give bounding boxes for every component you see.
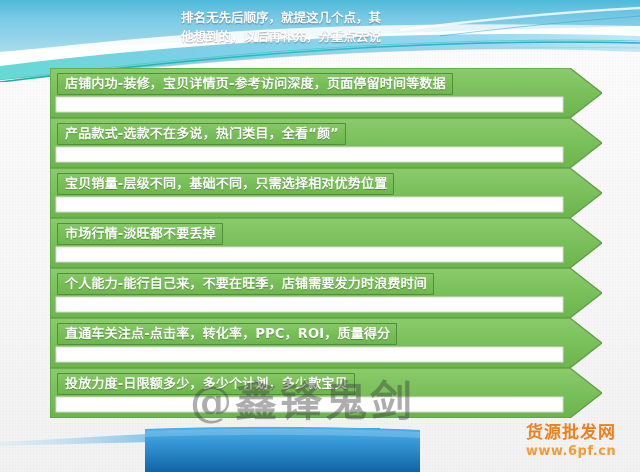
banner-text: 排名无先后顺序，就提这几个点，其 他想到的，以后再补充，分重点去说 <box>157 8 405 46</box>
arrow-label-3: 宝贝销量-层级不同，基础不同，只需选择相对优势位置 <box>57 173 394 195</box>
arrow-item-1[interactable]: 店铺内功-装修，宝贝详情页-参考访问深度，页面停留时间等数据 <box>50 68 602 118</box>
arrow-list: 店铺内功-装修，宝贝详情页-参考访问深度，页面停留时间等数据 产品款式-选款不在… <box>0 0 640 472</box>
arrow-label-6: 直通车关注点-点击率，转化率，PPC，ROI，质量得分 <box>57 323 397 345</box>
arrow-item-5[interactable]: 个人能力-能行自己来，不要在旺季，店铺需要发力时浪费时间 <box>50 268 602 318</box>
arrow-label-7: 投放力度-日限额多少，多少个计划，多少款宝贝 <box>57 373 355 395</box>
presentation-slide: 店铺内功-装修，宝贝详情页-参考访问深度，页面停留时间等数据 产品款式-选款不在… <box>0 0 640 472</box>
arrow-label-1: 店铺内功-装修，宝贝详情页-参考访问深度，页面停留时间等数据 <box>57 73 453 95</box>
arrow-item-4[interactable]: 市场行情-淡旺都不要丢掉 <box>50 218 602 268</box>
arrow-label-5: 个人能力-能行自己来，不要在旺季，店铺需要发力时浪费时间 <box>57 273 434 295</box>
arrow-item-3[interactable]: 宝贝销量-层级不同，基础不同，只需选择相对优势位置 <box>50 168 602 218</box>
bottom-banner-shape <box>0 418 520 472</box>
arrow-item-6[interactable]: 直通车关注点-点击率，转化率，PPC，ROI，质量得分 <box>50 318 602 368</box>
arrow-item-2[interactable]: 产品款式-选款不在多说，热门类目，全看“颜” <box>50 118 602 168</box>
arrow-item-7[interactable]: 投放力度-日限额多少，多少个计划，多少款宝贝 <box>50 368 602 418</box>
arrow-label-2: 产品款式-选款不在多说，热门类目，全看“颜” <box>57 123 346 145</box>
arrow-label-4: 市场行情-淡旺都不要丢掉 <box>57 223 223 245</box>
